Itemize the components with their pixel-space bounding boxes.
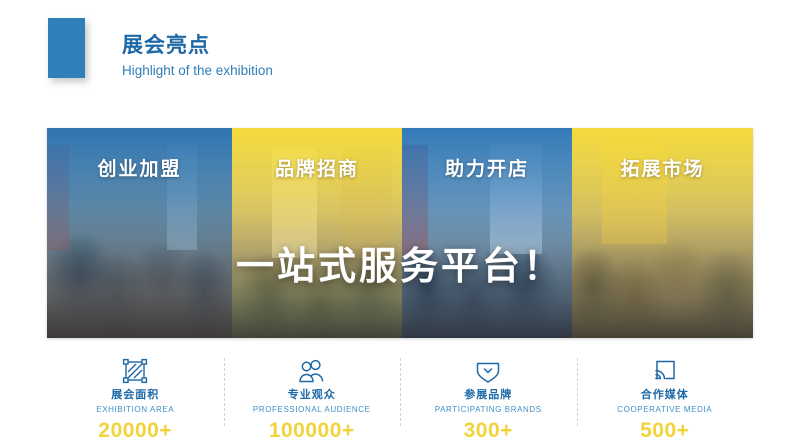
stat-item-professional-audience: 专业观众 PROFESSIONAL AUDIENCE 100000+ xyxy=(224,352,401,444)
page-subtitle: Highlight of the exhibition xyxy=(122,61,273,81)
stat-item-participating-brands: 参展品牌 PARTICIPATING BRANDS 300+ xyxy=(400,352,577,444)
panel-label: 拓展市场 xyxy=(572,154,753,181)
header-accent-bar xyxy=(48,18,85,78)
panel-label: 助力开店 xyxy=(402,154,572,181)
stat-title-en: EXHIBITION AREA xyxy=(96,404,174,415)
highlight-panel-2[interactable]: 品牌招商 xyxy=(232,128,402,338)
panel-label: 创业加盟 xyxy=(47,154,232,181)
exhibition-area-icon xyxy=(122,354,148,384)
highlight-photo-strip: 创业加盟 品牌招商 助力开店 拓展市场 一站式服务平台！ xyxy=(47,128,753,338)
page-header: 展会亮点 Highlight of the exhibition xyxy=(0,0,800,110)
stat-item-cooperative-media: 合作媒体 COOPERATIVE MEDIA 500+ xyxy=(577,352,754,444)
header-text-group: 展会亮点 Highlight of the exhibition xyxy=(122,33,273,81)
stat-value: 300+ xyxy=(464,418,513,443)
highlight-panel-4[interactable]: 拓展市场 xyxy=(572,128,753,338)
stat-title-en: COOPERATIVE MEDIA xyxy=(617,404,712,415)
stat-title-cn: 合作媒体 xyxy=(641,388,689,402)
stat-value: 20000+ xyxy=(98,418,172,443)
stat-item-exhibition-area: 展会面积 EXHIBITION AREA 20000+ xyxy=(47,352,224,444)
stat-title-cn: 参展品牌 xyxy=(464,388,512,402)
stat-title-en: PROFESSIONAL AUDIENCE xyxy=(253,404,371,415)
media-cast-icon xyxy=(652,354,678,384)
stat-value: 500+ xyxy=(640,418,689,443)
panel-label: 品牌招商 xyxy=(232,154,402,181)
highlight-panel-3[interactable]: 助力开店 xyxy=(402,128,572,338)
highlight-panel-1[interactable]: 创业加盟 xyxy=(47,128,232,338)
stat-title-en: PARTICIPATING BRANDS xyxy=(435,404,542,415)
stat-title-cn: 展会面积 xyxy=(111,388,159,402)
brand-shield-icon xyxy=(474,354,502,384)
audience-people-icon xyxy=(298,354,326,384)
stat-title-cn: 专业观众 xyxy=(288,388,336,402)
page-title: 展会亮点 xyxy=(122,33,273,59)
stat-value: 100000+ xyxy=(269,418,355,443)
stats-row: 展会面积 EXHIBITION AREA 20000+ 专业观众 PROFESS… xyxy=(47,352,753,444)
